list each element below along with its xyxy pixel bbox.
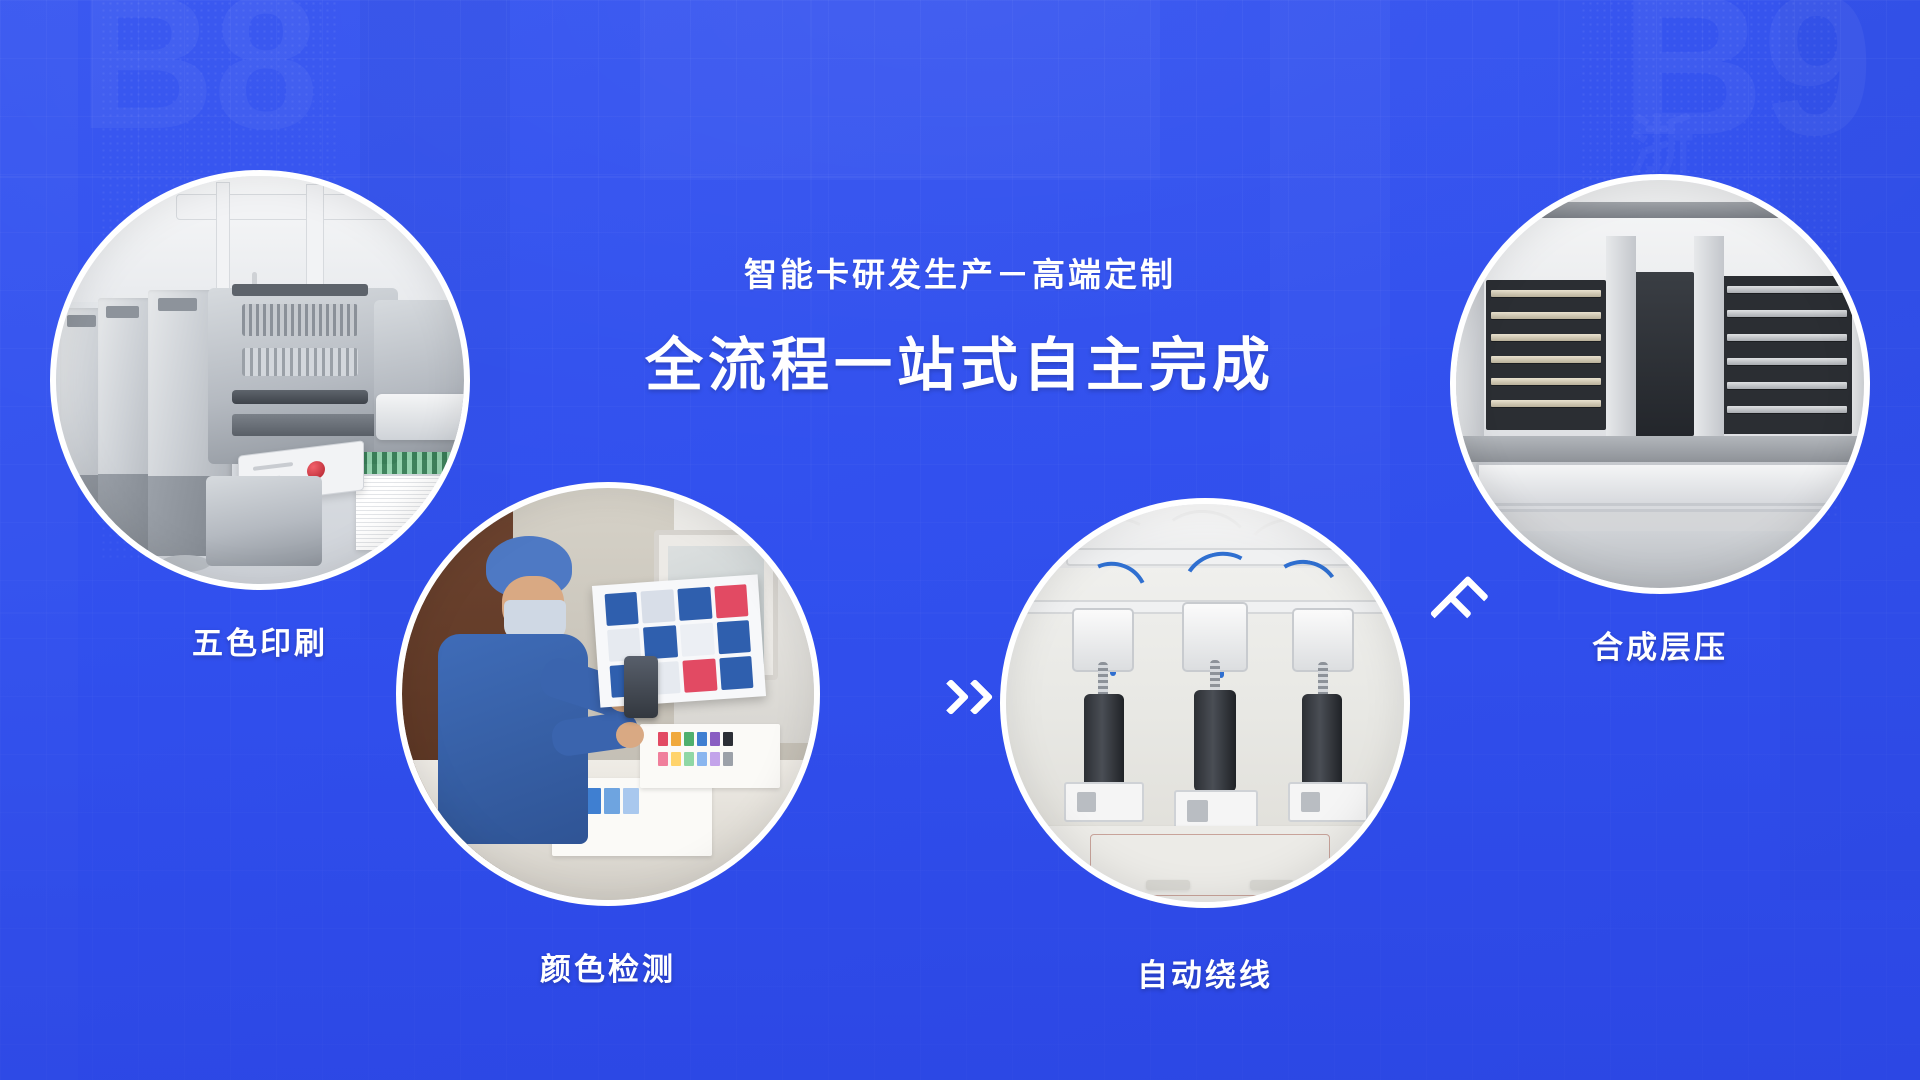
process-step-2-image — [396, 482, 820, 906]
process-step-2-label: 颜色检测 — [396, 944, 820, 989]
automatic-coil-winding-machine-photo — [1006, 504, 1404, 902]
operator-color-inspection-photo — [402, 488, 814, 900]
process-step-4-image — [1450, 174, 1870, 594]
lamination-press-photo — [1456, 180, 1864, 588]
double-chevron-right-icon — [938, 682, 998, 728]
process-step-4-label: 合成层压 — [1450, 622, 1870, 667]
process-step-3-label: 自动绕线 — [1000, 950, 1410, 995]
process-step-3-image — [1000, 498, 1410, 908]
banner-root: B8 B9 浙 智能卡研发生产－高端定制 全流程一站式自主完成 — [0, 0, 1920, 1080]
process-step-2[interactable]: 颜色检测 — [396, 482, 820, 906]
process-step-3[interactable]: 自动绕线 — [1000, 498, 1410, 908]
process-step-4[interactable]: 合成层压 — [1450, 174, 1870, 594]
